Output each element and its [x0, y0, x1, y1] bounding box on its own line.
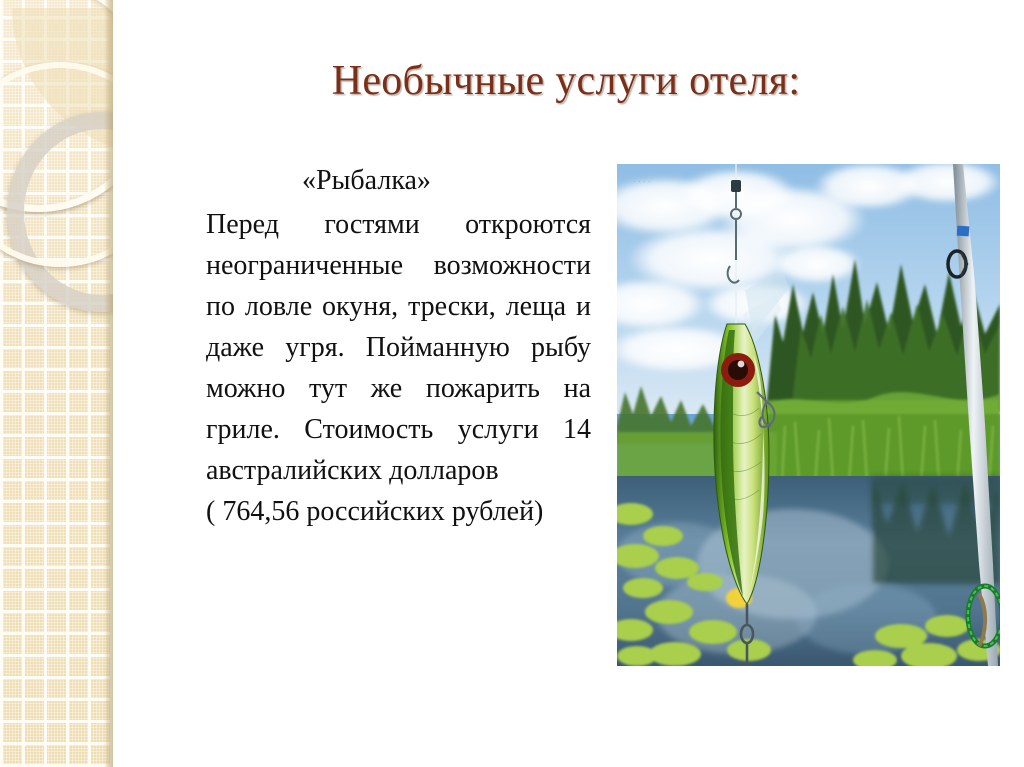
- slide-canvas: Необычные услуги отеля: «Рыбалка» Перед …: [0, 0, 1024, 767]
- sidebar-edge-shadow: [104, 0, 113, 767]
- photo-watermark: . . . .: [633, 174, 651, 184]
- body-text-block: Перед гостями откроются неограниченные в…: [206, 204, 591, 532]
- body-paragraph-2: ( 764,56 российских рублей): [206, 491, 591, 532]
- rod-thread-wrap: [957, 226, 970, 237]
- body-paragraph-1: Перед гостями откроются неограниченные в…: [206, 204, 591, 491]
- page-title: Необычные услуги отеля:: [133, 58, 999, 104]
- text-content-column: «Рыбалка» Перед гостями откроются неогра…: [206, 162, 591, 532]
- line-knot: [731, 180, 741, 192]
- fishing-lure-photo: . . . .: [617, 164, 1000, 666]
- decorative-sidebar: [0, 0, 113, 767]
- second-cream-ring-icon: [0, 62, 113, 267]
- section-subheading: «Рыбалка»: [206, 162, 591, 200]
- fishing-scene-illustration: . . . .: [617, 164, 1000, 666]
